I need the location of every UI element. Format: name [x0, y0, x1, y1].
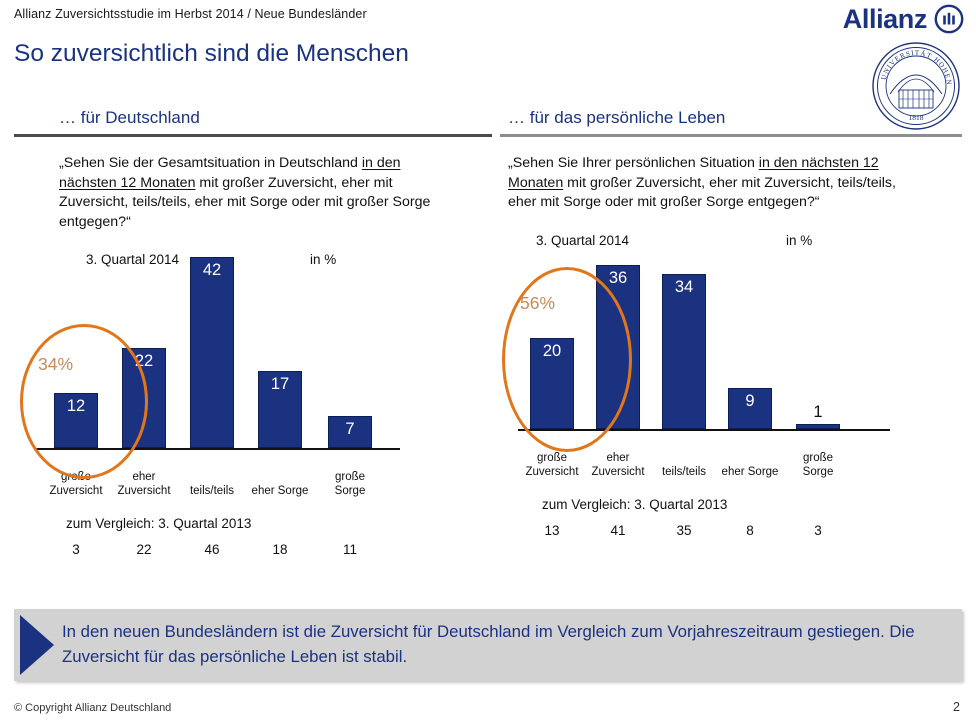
comparison-label-left: zum Vergleich: 3. Quartal 2013: [66, 516, 251, 531]
bar-gro-e-sorge: 7: [328, 416, 372, 448]
chart-meta-right: 3. Quartal 2014 in %: [500, 233, 962, 251]
category-line: Sorge: [803, 466, 834, 478]
comparison-label-right: zum Vergleich: 3. Quartal 2013: [542, 497, 727, 512]
bar-value-label: 9: [729, 392, 771, 411]
category-line: Zuversicht: [49, 485, 102, 497]
comparison-value: 13: [520, 523, 584, 538]
question-part-1: „Sehen Sie der Gesamtsituation in Deutsc…: [59, 155, 362, 171]
bar-value-label: 17: [259, 375, 301, 394]
quarter-label-right: 3. Quartal 2014: [536, 233, 629, 248]
bar-chart-persoenliches-leben: 20großeZuversicht36eherZuversicht34teils…: [500, 257, 962, 487]
highlight-percentage-label: 34%: [38, 354, 73, 375]
banner-arrow-icon: [18, 613, 58, 677]
bar-teils-teils: 42: [190, 257, 234, 448]
bar-value-label: 34: [663, 278, 705, 297]
comparison-values-right: 13413583: [500, 523, 962, 541]
question-text-deutschland: „Sehen Sie der Gesamtsituation in Deutsc…: [59, 154, 459, 232]
category-line: Zuversicht: [525, 466, 578, 478]
comparison-value: 41: [586, 523, 650, 538]
category-line: eher: [606, 452, 629, 464]
category-line: Zuversicht: [591, 466, 644, 478]
category-label: teils/teils: [180, 484, 244, 498]
slide-kicker: Allianz Zuversichtsstudie im Herbst 2014…: [14, 7, 367, 21]
category-line: eher Sorge: [252, 485, 309, 497]
category-line: teils/teils: [190, 485, 234, 497]
unit-label-left: in %: [310, 252, 336, 267]
bar-gro-e-zuversicht: 20: [530, 338, 574, 429]
bar-value-label: 22: [123, 352, 165, 371]
chart-baseline-right: [518, 429, 890, 431]
bar-chart-deutschland: 12großeZuversicht22eherZuversicht42teils…: [14, 276, 492, 506]
bar-eher-zuversicht: 22: [122, 348, 166, 448]
column-deutschland: … für Deutschland „Sehen Sie der Gesamts…: [14, 108, 492, 564]
chart-meta-left: 3. Quartal 2014 in %: [14, 252, 492, 270]
category-line: große: [537, 452, 567, 464]
category-label: eher Sorge: [248, 484, 312, 498]
bar-eher-sorge: 17: [258, 371, 302, 448]
quarter-label-left: 3. Quartal 2014: [86, 252, 179, 267]
question-part-1: „Sehen Sie Ihrer persönlichen Situation: [508, 155, 759, 171]
bar-value-label: 12: [55, 397, 97, 416]
question-text-persoenliches-leben: „Sehen Sie Ihrer persönlichen Situation …: [508, 154, 900, 213]
page-title: So zuversichtlich sind die Menschen: [14, 40, 409, 68]
category-line: große: [803, 452, 833, 464]
allianz-bars-icon: [934, 4, 964, 34]
comparison-value: 3: [786, 523, 850, 538]
section-title-deutschland: … für Deutschland: [59, 108, 492, 128]
comparison-block-right: zum Vergleich: 3. Quartal 2013 13413583: [500, 497, 962, 545]
comparison-block-left: zum Vergleich: 3. Quartal 2013 322461811: [14, 516, 492, 564]
comparison-values-left: 322461811: [14, 542, 492, 560]
category-label: eher Sorge: [718, 465, 782, 479]
bar-value-label: 36: [597, 269, 639, 288]
category-label: großeSorge: [786, 451, 850, 479]
comparison-value: 46: [180, 542, 244, 557]
slide-canvas: Allianz Zuversichtsstudie im Herbst 2014…: [0, 0, 976, 726]
chart-baseline-left: [36, 448, 400, 450]
bar-teils-teils: 34: [662, 274, 706, 429]
category-label: teils/teils: [652, 465, 716, 479]
category-line: große: [335, 471, 365, 483]
category-line: eher Sorge: [722, 466, 779, 478]
bar-eher-sorge: 9: [728, 388, 772, 429]
column-persoenliches-leben: … für das persönliche Leben „Sehen Sie I…: [500, 108, 962, 545]
comparison-value: 18: [248, 542, 312, 557]
allianz-logo: Allianz: [843, 4, 964, 34]
highlight-percentage-label: 56%: [520, 293, 555, 314]
summary-banner-text: In den neuen Bundesländern ist die Zuver…: [62, 619, 946, 669]
comparison-value: 22: [112, 542, 176, 557]
bar-value-label: 42: [191, 261, 233, 280]
category-line: eher: [132, 471, 155, 483]
category-label: großeSorge: [318, 470, 382, 498]
section-divider-left: [14, 134, 492, 137]
category-label: eherZuversicht: [586, 451, 650, 479]
comparison-value: 3: [44, 542, 108, 557]
comparison-value: 35: [652, 523, 716, 538]
category-line: teils/teils: [662, 466, 706, 478]
section-divider-right: [500, 134, 962, 137]
category-label: großeZuversicht: [520, 451, 584, 479]
footer-copyright: © Copyright Allianz Deutschland: [14, 702, 171, 714]
category-line: Sorge: [335, 485, 366, 497]
bar-value-label: 1: [797, 403, 839, 422]
footer-page-number: 2: [953, 700, 960, 714]
category-label: eherZuversicht: [112, 470, 176, 498]
bar-value-label: 7: [329, 420, 371, 439]
question-part-2: mit großer Zuversicht, eher mit Zuversic…: [508, 175, 896, 211]
allianz-wordmark: Allianz: [843, 6, 927, 33]
summary-banner: In den neuen Bundesländern ist die Zuver…: [14, 609, 962, 681]
section-title-persoenliches-leben: … für das persönliche Leben: [508, 108, 962, 128]
category-label: großeZuversicht: [44, 470, 108, 498]
category-line: große: [61, 471, 91, 483]
category-line: Zuversicht: [117, 485, 170, 497]
unit-label-right: in %: [786, 233, 812, 248]
comparison-value: 8: [718, 523, 782, 538]
comparison-value: 11: [318, 542, 382, 557]
bar-gro-e-zuversicht: 12: [54, 393, 98, 448]
bar-eher-zuversicht: 36: [596, 265, 640, 429]
svg-text:UNIVERSITÄT HOHENHEIM: UNIVERSITÄT HOHENHEIM: [870, 40, 953, 86]
bar-gro-e-sorge: 1: [796, 424, 840, 429]
bar-value-label: 20: [531, 342, 573, 361]
